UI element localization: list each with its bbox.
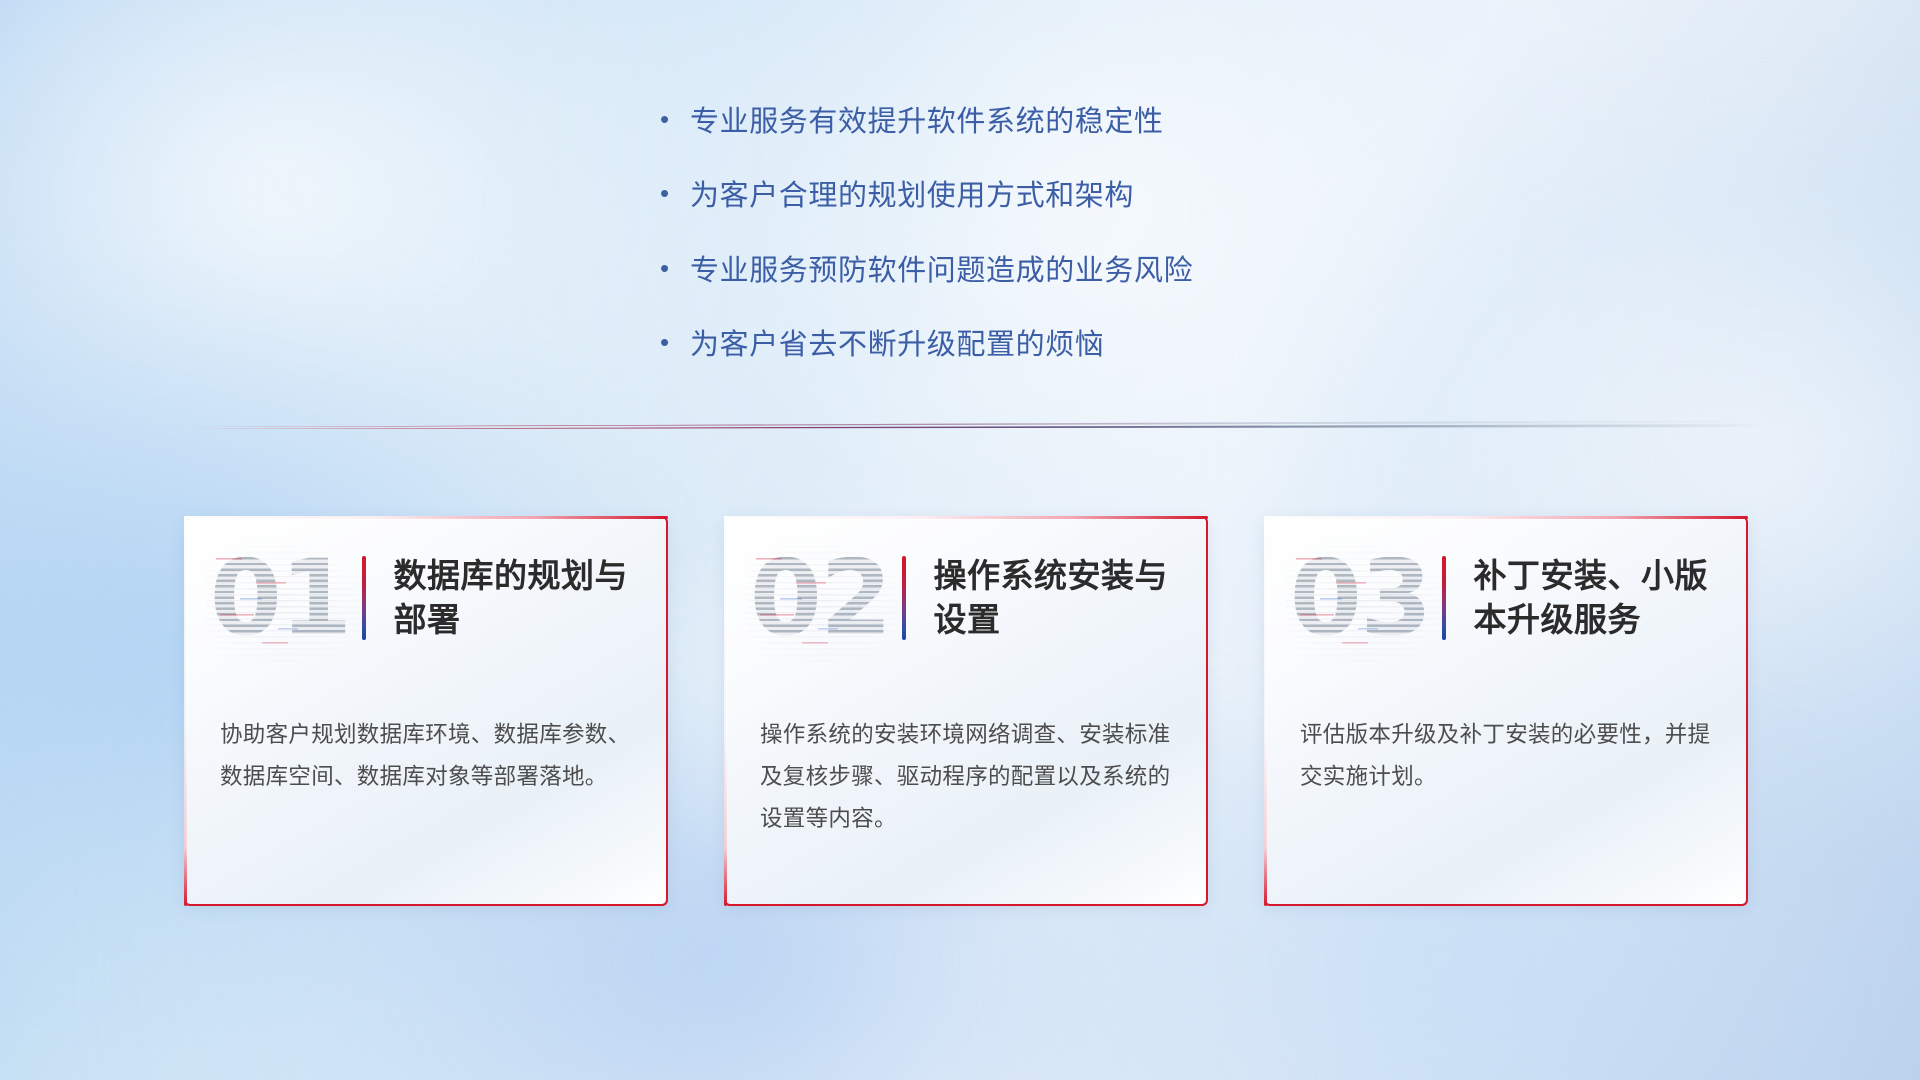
feature-card[interactable]: 03 补丁安装、小版本升级服务 评估版本升级及补丁安装的必要性，并提交实施计划。: [1266, 518, 1746, 904]
feature-card-row: 01 数据库的规划与部署 协助客户规划数据库环境、数据库参数、数据库空间、数据库…: [186, 518, 1746, 904]
card-number-text: 03: [1290, 546, 1431, 650]
bullet-point-icon: •: [660, 180, 690, 206]
card-description: 操作系统的安装环境网络调查、安装标准及复核步骤、驱动程序的配置以及系统的设置等内…: [760, 714, 1172, 840]
card-number-decoration: 03: [1292, 536, 1428, 660]
card-accent-bar: [902, 556, 906, 640]
card-number-decoration: 01: [212, 536, 348, 660]
card-header: 01 数据库的规划与部署: [186, 518, 666, 678]
bullet-item-text: 为客户合理的规划使用方式和架构: [690, 178, 1134, 214]
card-accent-bar: [362, 556, 366, 640]
bullet-point-icon: •: [660, 106, 690, 132]
bullet-item: • 为客户合理的规划使用方式和架构: [660, 178, 1480, 214]
feature-card[interactable]: 01 数据库的规划与部署 协助客户规划数据库环境、数据库参数、数据库空间、数据库…: [186, 518, 666, 904]
card-description: 评估版本升级及补丁安装的必要性，并提交实施计划。: [1300, 714, 1712, 798]
card-number-text: 01: [210, 546, 351, 650]
card-accent-bar: [1442, 556, 1446, 640]
bullet-item: • 专业服务有效提升软件系统的稳定性: [660, 104, 1480, 140]
bullet-point-icon: •: [660, 329, 690, 355]
card-header: 03 补丁安装、小版本升级服务: [1266, 518, 1746, 678]
card-number-text: 02: [750, 546, 891, 650]
bullet-item-text: 专业服务有效提升软件系统的稳定性: [690, 104, 1164, 140]
card-description: 协助客户规划数据库环境、数据库参数、数据库空间、数据库对象等部署落地。: [220, 714, 632, 798]
bullet-item: • 为客户省去不断升级配置的烦恼: [660, 327, 1480, 363]
bullet-item: • 专业服务预防软件问题造成的业务风险: [660, 253, 1480, 289]
bullet-item-text: 专业服务预防软件问题造成的业务风险: [690, 253, 1193, 289]
card-title: 操作系统安装与设置: [934, 554, 1184, 642]
bullet-point-icon: •: [660, 255, 690, 281]
section-divider: [183, 418, 1765, 440]
bullet-list: • 专业服务有效提升软件系统的稳定性 • 为客户合理的规划使用方式和架构 • 专…: [660, 104, 1480, 401]
card-header: 02 操作系统安装与设置: [726, 518, 1206, 678]
bullet-item-text: 为客户省去不断升级配置的烦恼: [690, 327, 1104, 363]
card-title: 数据库的规划与部署: [394, 554, 644, 642]
card-title: 补丁安装、小版本升级服务: [1474, 554, 1724, 642]
card-number-decoration: 02: [752, 536, 888, 660]
feature-card[interactable]: 02 操作系统安装与设置 操作系统的安装环境网络调查、安装标准及复核步骤、驱动程…: [726, 518, 1206, 904]
